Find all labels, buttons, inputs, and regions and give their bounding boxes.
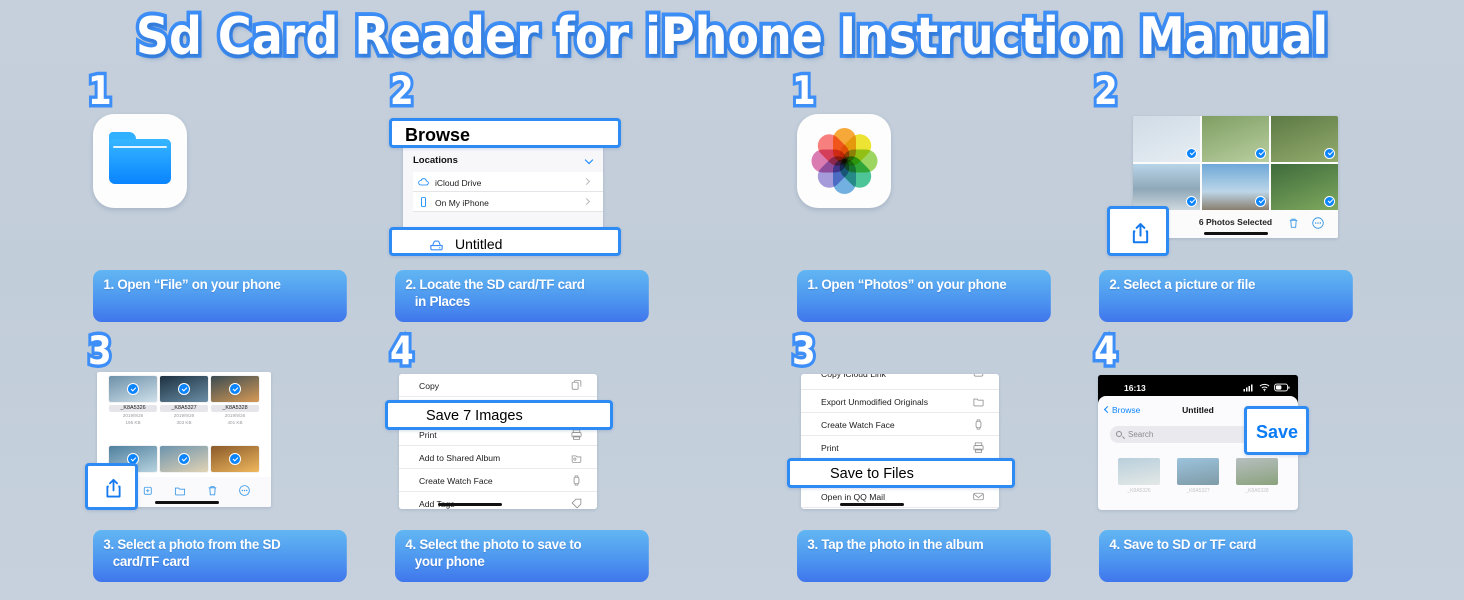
file-item[interactable]: [160, 446, 208, 472]
panel-step-4-save-images: 4 Copy Print Add to Shared Album: [385, 332, 685, 582]
caption-text-line2: in Places: [405, 294, 638, 311]
menu-item-create-watch-face[interactable]: Create Watch Face: [801, 413, 999, 436]
more-icon[interactable]: [1311, 216, 1325, 230]
file-name: _K8A5327: [160, 405, 208, 412]
location-label: On My iPhone: [435, 198, 489, 208]
add-to-album-icon[interactable]: [141, 484, 154, 497]
menu-item-add-tags[interactable]: Add Tags: [399, 492, 597, 509]
menu-item-export-originals[interactable]: Export Unmodified Originals: [801, 390, 999, 413]
chevron-right-icon: [583, 177, 590, 184]
caption-text: 2. Select a picture or file: [1109, 277, 1342, 294]
page-title: Sd Card Reader for iPhone Instruction Ma…: [136, 6, 1328, 66]
caption-bar: 3. Select a photo from the SD card/TF ca…: [93, 530, 347, 582]
menu-item-label: Export Unmodified Originals: [821, 397, 928, 407]
iphone-icon: [417, 196, 430, 208]
save-button-callout[interactable]: Save: [1244, 406, 1309, 455]
panel-step-2-select-photos: 2 6 Photos Selected: [1089, 72, 1389, 322]
page-title-bar: Sd Card Reader for iPhone Instruction Ma…: [0, 6, 1464, 68]
selected-check-icon: [229, 453, 241, 465]
selection-status-text: 6 Photos Selected: [1199, 217, 1272, 227]
file-thumbnail[interactable]: [1236, 458, 1278, 485]
file-date: 2019/9/26: [160, 413, 208, 419]
chevron-down-icon[interactable]: [585, 156, 593, 164]
selected-check-icon: [1255, 148, 1266, 159]
photo-thumbnail[interactable]: [1133, 116, 1200, 162]
file-size: 195 KB: [109, 420, 157, 426]
step-number: 2: [1094, 72, 1118, 111]
caption-text-line1: 4. Select the photo to save to: [405, 537, 638, 554]
caption-text: 3. Tap the photo in the album: [807, 537, 1040, 554]
panel-step-1-files: 1 1. Open “File” on your phone: [83, 72, 383, 322]
home-indicator: [1204, 232, 1268, 235]
menu-item-label: Copy: [419, 381, 439, 391]
photo-thumbnail[interactable]: [1271, 164, 1338, 210]
share-button-callout[interactable]: [1107, 206, 1169, 256]
share-icon: [1128, 220, 1153, 247]
trash-icon[interactable]: [1287, 216, 1300, 230]
menu-item-label: Add to Shared Album: [419, 453, 500, 463]
caption-bar: 2. Select a picture or file: [1099, 270, 1353, 322]
caption-text-line1: 3. Select a photo from the SD: [103, 537, 336, 554]
photo-thumbnail[interactable]: [1202, 164, 1269, 210]
menu-item-label: Create Watch Face: [821, 420, 895, 430]
file-item[interactable]: [211, 446, 259, 472]
selected-check-icon: [1324, 196, 1335, 207]
file-thumbnail-name: _K8A5328: [1236, 488, 1278, 494]
wifi-icon: [1259, 383, 1270, 392]
home-indicator: [840, 503, 904, 506]
share-icon: [102, 476, 125, 501]
menu-item-add-shared-album[interactable]: Add to Shared Album: [399, 446, 597, 469]
panel-step-2-browse: 2 Search Locations iCloud Drive On My iP…: [385, 72, 685, 322]
share-sheet-screenshot: Copy Print Add to Shared Album Create Wa…: [399, 374, 597, 509]
status-time: 16:13: [1124, 383, 1146, 393]
browse-title-callout[interactable]: Browse: [389, 118, 621, 148]
caption-bar: 3. Tap the photo in the album: [797, 530, 1051, 582]
menu-item-copy-icloud-link[interactable]: Copy iCloud Link: [801, 374, 999, 390]
caption-text: 4. Save to SD or TF card: [1109, 537, 1342, 554]
caption-bar: 1. Open “File” on your phone: [93, 270, 347, 322]
save-to-files-callout[interactable]: Save to Files: [787, 458, 1015, 488]
file-size: 401 KB: [211, 420, 259, 426]
menu-item-copy[interactable]: Copy: [399, 374, 597, 397]
search-icon: [1116, 431, 1122, 437]
selected-check-icon: [229, 383, 241, 395]
home-indicator: [155, 501, 219, 504]
location-row-on-my-iphone[interactable]: On My iPhone: [413, 192, 603, 212]
home-indicator: [438, 503, 502, 506]
selected-check-icon: [1186, 196, 1197, 207]
file-date: 2019/9/26: [211, 413, 259, 419]
browse-title-label: Browse: [405, 125, 470, 146]
search-placeholder: Search: [1128, 430, 1153, 439]
caption-text-line1: 2. Locate the SD card/TF card: [405, 277, 638, 294]
selected-check-icon: [127, 383, 139, 395]
file-date: 2019/9/26: [109, 413, 157, 419]
file-thumbnail-name: _K8A5326: [1118, 488, 1160, 494]
file-item[interactable]: _K8A5327 2019/9/26 303 KB: [160, 376, 208, 426]
copy-icon: [570, 379, 583, 392]
step-number: 4: [1094, 332, 1118, 371]
folder-icon: [972, 395, 985, 408]
untitled-drive-label: Untitled: [455, 236, 502, 252]
location-row-icloud[interactable]: iCloud Drive: [413, 172, 603, 192]
file-item[interactable]: _K8A5326 2019/9/26 195 KB: [109, 376, 157, 426]
caption-bar: 2. Locate the SD card/TF card in Places: [395, 270, 649, 322]
file-name: _K8A5326: [109, 405, 157, 412]
folder-icon: [109, 139, 171, 184]
tag-icon: [570, 497, 583, 509]
file-thumbnail-name: _K8A5327: [1177, 488, 1219, 494]
selected-check-icon: [1186, 148, 1197, 159]
caption-text-line2: your phone: [405, 554, 638, 571]
file-thumbnail[interactable]: [1118, 458, 1160, 485]
step-number: 3: [792, 332, 816, 371]
panel-step-3-select-from-sd: 3 _K8A5326 2019/9/26 195 KB _K8A5327 201…: [83, 332, 383, 582]
step-number: 1: [88, 72, 112, 111]
photo-thumbnail[interactable]: [1202, 116, 1269, 162]
caption-text: 1. Open “File” on your phone: [103, 277, 336, 294]
cellular-signal-icon: [1243, 383, 1255, 392]
step-number: 2: [390, 72, 414, 111]
photo-thumbnail[interactable]: [1271, 116, 1338, 162]
caption-bar: 1. Open “Photos” on your phone: [797, 270, 1051, 322]
caption-bar: 4. Select the photo to save to your phon…: [395, 530, 649, 582]
selected-check-icon: [1324, 148, 1335, 159]
menu-item-create-watch-face[interactable]: Create Watch Face: [399, 469, 597, 492]
menu-item-label: Print: [419, 430, 437, 440]
step-number: 1: [792, 72, 816, 111]
chevron-right-icon: [583, 197, 590, 204]
files-app-icon[interactable]: [93, 114, 187, 208]
photo-thumbnail[interactable]: [1133, 164, 1200, 210]
untitled-drive-callout[interactable]: Untitled: [389, 227, 621, 256]
photo-grid: [1133, 116, 1338, 211]
file-thumbnail[interactable]: [1177, 458, 1219, 485]
mail-icon: [972, 490, 985, 503]
locations-section-header: Locations: [413, 155, 593, 166]
panel-step-1-photos: 1 1. Open “Photos” on your phone: [787, 72, 1087, 322]
step-number: 3: [88, 332, 112, 371]
selected-check-icon: [1255, 196, 1266, 207]
caption-text: 1. Open “Photos” on your phone: [807, 277, 1040, 294]
external-drive-icon: [427, 236, 446, 253]
menu-item-print[interactable]: Print: [801, 436, 999, 459]
menu-item-label: Print: [821, 443, 839, 453]
folder-icon[interactable]: [173, 484, 187, 497]
file-name: _K8A5328: [211, 405, 259, 412]
caption-bar: 4. Save to SD or TF card: [1099, 530, 1353, 582]
file-item[interactable]: _K8A5328 2019/9/26 401 KB: [211, 376, 259, 426]
save-images-callout[interactable]: Save 7 Images: [385, 400, 613, 430]
menu-item-label: Open in QQ Mail: [821, 492, 885, 502]
save-to-files-label: Save to Files: [830, 466, 914, 482]
panel-step-4-save-to-card: 4 16:13 Browse: [1089, 332, 1389, 582]
selected-check-icon: [178, 453, 190, 465]
selected-check-icon: [178, 383, 190, 395]
photos-app-icon[interactable]: [797, 114, 891, 208]
pinwheel-icon: [811, 128, 877, 194]
location-label: iCloud Drive: [435, 178, 481, 188]
menu-item-label: Create Watch Face: [419, 476, 493, 486]
menu-item-label: Copy iCloud Link: [821, 374, 886, 379]
step-number: 4: [390, 332, 414, 371]
caption-text-line2: card/TF card: [103, 554, 336, 571]
file-size: 303 KB: [160, 420, 208, 426]
share-sheet-screenshot: Copy iCloud Link Export Unmodified Origi…: [801, 374, 999, 509]
trash-icon[interactable]: [206, 484, 219, 497]
more-icon[interactable]: [238, 484, 251, 497]
save-button-label: Save: [1256, 422, 1298, 443]
cloud-icon: [417, 176, 430, 188]
battery-icon: [1274, 383, 1290, 392]
watch-icon: [570, 474, 583, 487]
printer-icon: [972, 441, 985, 454]
save-images-label: Save 7 Images: [426, 408, 523, 424]
shared-album-icon: [570, 451, 583, 464]
link-icon: [972, 374, 985, 380]
share-button-callout[interactable]: [85, 463, 138, 510]
watch-icon: [972, 418, 985, 431]
panel-step-3-tap-photo: 3 Copy iCloud Link Export Unmodified Ori…: [787, 332, 1087, 582]
